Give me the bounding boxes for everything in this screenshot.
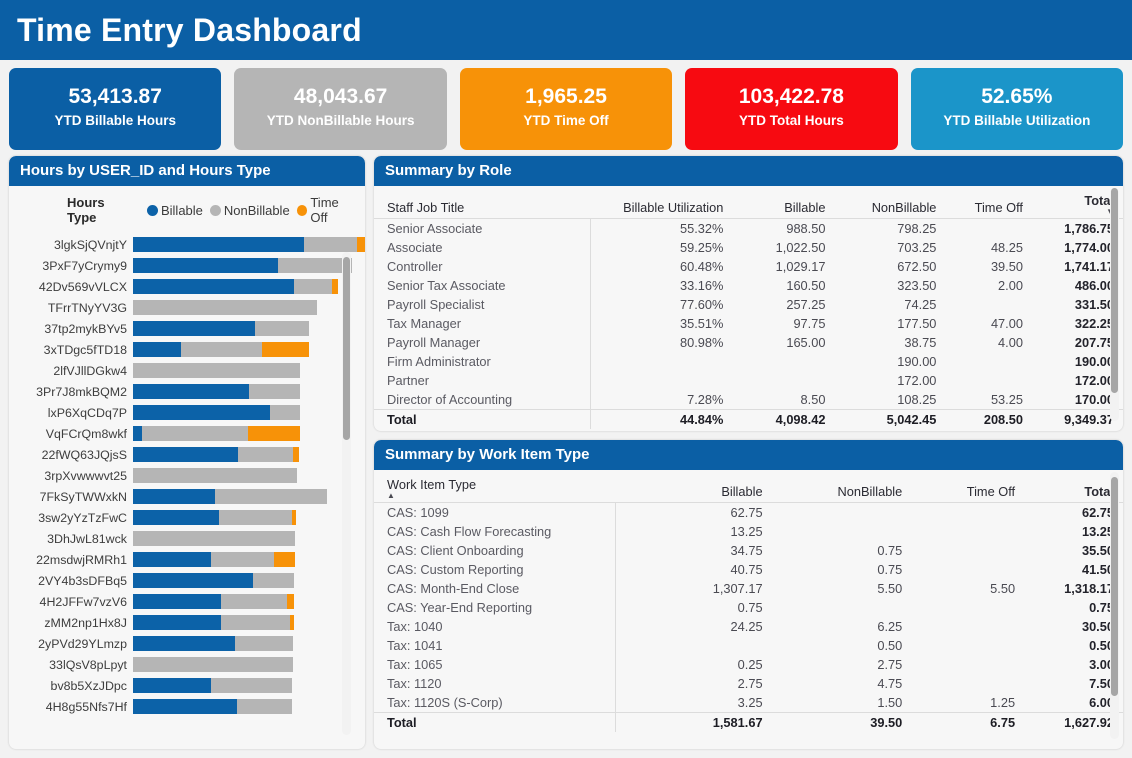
row-label-cell: CAS: Custom Reporting [374, 560, 616, 579]
chart-category-label[interactable]: 22msdwjRMRh1 [9, 553, 133, 567]
dashboard-body: Hours by USER_ID and Hours Type Hours Ty… [0, 150, 1132, 758]
data-cell-timeoff: 53.25 [945, 390, 1032, 410]
kpi-value: 53,413.87 [68, 83, 161, 111]
bar-segment-billable[interactable] [133, 699, 237, 714]
bar-segment-nonbillable[interactable] [219, 510, 293, 525]
legend-label: NonBillable [224, 203, 290, 218]
data-cell-total: 41.50 [1024, 560, 1123, 579]
stacked-bar[interactable] [133, 531, 295, 546]
row-label-cell: CAS: 1099 [374, 503, 616, 523]
data-cell-billable: 988.50 [732, 219, 834, 239]
column-header-billable[interactable]: Billable [732, 188, 834, 219]
data-cell-util: 60.48% [590, 257, 732, 276]
kpi-label: YTD Time Off [523, 111, 608, 131]
data-cell-billable [732, 371, 834, 390]
chart-category-label[interactable]: 2lfVJllDGkw4 [9, 364, 133, 378]
bar-segment-time-off[interactable] [287, 594, 294, 609]
data-cell-billable: 1,029.17 [732, 257, 834, 276]
column-header-label: NonBillable [838, 484, 903, 499]
data-cell-util: 35.51% [590, 314, 732, 333]
data-cell-billable: 0.75 [616, 598, 772, 617]
chart-category-label[interactable]: 33lQsV8pLpyt [9, 658, 133, 672]
data-cell-timeoff [911, 636, 1024, 655]
chart-bar-row[interactable]: TFrrTNyYV3G [9, 297, 365, 318]
bar-segment-billable[interactable] [133, 321, 255, 336]
chart-category-label[interactable]: 4H8g55Nfs7Hf [9, 700, 133, 714]
stacked-bar[interactable] [133, 636, 293, 651]
sort-ascending-icon: ▲ [387, 492, 395, 499]
bar-segment-billable[interactable] [133, 384, 249, 399]
chart-bar-row[interactable]: 33lQsV8pLpyt [9, 654, 365, 675]
stacked-bar[interactable] [133, 678, 292, 693]
bar-segment-time-off[interactable] [274, 552, 295, 567]
data-cell-util: 77.60% [590, 295, 732, 314]
data-cell-nonbillable: 1.50 [772, 693, 912, 713]
bar-segment-time-off[interactable] [332, 279, 338, 294]
row-label-cell: Payroll Specialist [374, 295, 590, 314]
data-cell-total: 13.25 [1024, 522, 1123, 541]
data-cell-nonbillable: 190.00 [834, 352, 945, 371]
bar-segment-nonbillable[interactable] [133, 300, 317, 315]
row-label-cell: CAS: Month-End Close [374, 579, 616, 598]
bar-segment-nonbillable[interactable] [294, 279, 332, 294]
chart-bar-row[interactable]: 3xTDgc5fTD18 [9, 339, 365, 360]
row-label-cell: Tax Manager [374, 314, 590, 333]
chart-bar-row[interactable]: 3rpXvwwwvt25 [9, 465, 365, 486]
column-header-time-off[interactable]: Time Off [911, 472, 1024, 503]
bar-segment-nonbillable[interactable] [270, 405, 300, 420]
stacked-bar[interactable] [133, 552, 295, 567]
data-cell-nonbillable [772, 503, 912, 523]
column-header-label: Time Off [967, 484, 1015, 499]
data-cell-nonbillable: 38.75 [834, 333, 945, 352]
total-cell-nonbillable: 5,042.45 [834, 410, 945, 430]
data-cell-total: 62.75 [1024, 503, 1123, 523]
data-cell-billable [732, 352, 834, 371]
legend-item-billable[interactable]: Billable [147, 203, 203, 218]
stacked-bar[interactable] [133, 615, 294, 630]
chart-category-label[interactable]: 3lgkSjQVnjtY [9, 238, 133, 252]
role-table-header[interactable]: Staff Job TitleBillable UtilizationBilla… [374, 188, 1123, 219]
chart-bar-row[interactable]: 3DhJwL81wck [9, 528, 365, 549]
summary-by-work-item-body: Work Item Type▲BillableNonBillableTime O… [374, 470, 1123, 749]
chart-bar-row[interactable]: 42Dv569vVLCX [9, 276, 365, 297]
bar-segment-billable[interactable] [133, 447, 238, 462]
row-label-cell: Tax: 1040 [374, 617, 616, 636]
table-row[interactable]: Tax: 1120S (S-Corp)3.251.501.256.00 [374, 693, 1123, 713]
chart-scrollbar-thumb[interactable] [343, 257, 350, 441]
table-row[interactable]: CAS: 109962.7562.75 [374, 503, 1123, 523]
bar-segment-time-off[interactable] [290, 615, 294, 630]
kpi-ytd-billable-utilization[interactable]: 52.65%YTD Billable Utilization [911, 68, 1123, 150]
kpi-value: 48,043.67 [294, 83, 387, 111]
chart-bar-row[interactable]: 4H8g55Nfs7Hf [9, 696, 365, 717]
data-cell-total: 35.50 [1024, 541, 1123, 560]
data-cell-timeoff: 2.00 [945, 276, 1032, 295]
bar-segment-nonbillable[interactable] [142, 426, 248, 441]
chart-category-label[interactable]: 4H2JFFw7vzV6 [9, 595, 133, 609]
bar-segment-billable[interactable] [133, 678, 211, 693]
chart-category-label[interactable]: lxP6XqCDq7P [9, 406, 133, 420]
table-row[interactable]: CAS: Month-End Close1,307.175.505.501,31… [374, 579, 1123, 598]
row-label-cell: CAS: Client Onboarding [374, 541, 616, 560]
total-row-label: Total [374, 713, 616, 733]
chart-category-label[interactable]: zMM2np1Hx8J [9, 616, 133, 630]
chart-bar-row[interactable]: bv8b5XzJDpc [9, 675, 365, 696]
chart-bar-row[interactable]: 2VY4b3sDFBq5 [9, 570, 365, 591]
column-header-label: NonBillable [872, 200, 937, 215]
chart-category-label[interactable]: 3DhJwL81wck [9, 532, 133, 546]
legend-caption: Hours Type [67, 195, 137, 225]
bar-segment-nonbillable[interactable] [133, 657, 293, 672]
data-cell-nonbillable: 2.75 [772, 655, 912, 674]
data-cell-billable: 40.75 [616, 560, 772, 579]
row-label-cell: Payroll Manager [374, 333, 590, 352]
total-row-label: Total [374, 410, 590, 430]
chart-category-label[interactable]: 3rpXvwwwvt25 [9, 469, 133, 483]
row-label-cell: Senior Tax Associate [374, 276, 590, 295]
table-row[interactable]: Senior Associate55.32%988.50798.251,786.… [374, 219, 1123, 239]
table-row[interactable]: CAS: Year-End Reporting0.750.75 [374, 598, 1123, 617]
bar-segment-nonbillable[interactable] [253, 573, 294, 588]
bar-segment-nonbillable[interactable] [278, 258, 352, 273]
table-total-row: Total1,581.6739.506.751,627.92 [374, 713, 1123, 733]
data-cell-timeoff [911, 541, 1024, 560]
bar-segment-nonbillable[interactable] [211, 552, 275, 567]
bar-segment-nonbillable[interactable] [237, 699, 293, 714]
chart-category-label[interactable]: VqFCrQm8wkf [9, 427, 133, 441]
row-label-cell: CAS: Cash Flow Forecasting [374, 522, 616, 541]
data-cell-nonbillable: 0.75 [772, 541, 912, 560]
table-row[interactable]: Firm Administrator190.00190.00 [374, 352, 1123, 371]
data-cell-billable: 13.25 [616, 522, 772, 541]
bar-segment-nonbillable[interactable] [221, 615, 291, 630]
chart-category-label[interactable]: 3Pr7J8mkBQM2 [9, 385, 133, 399]
page-title: Time Entry Dashboard [17, 12, 362, 49]
table-row[interactable]: CAS: Cash Flow Forecasting13.2513.25 [374, 522, 1123, 541]
bar-segment-nonbillable[interactable] [221, 594, 288, 609]
table-row[interactable]: Tax: 104024.256.2530.50 [374, 617, 1123, 636]
chart-bar-row[interactable]: 22msdwjRMRh1 [9, 549, 365, 570]
bar-segment-billable[interactable] [133, 510, 219, 525]
bar-segment-billable[interactable] [133, 405, 270, 420]
role-table-body[interactable]: Senior Associate55.32%988.50798.251,786.… [374, 219, 1123, 430]
stacked-bar[interactable] [133, 573, 294, 588]
data-cell-timeoff: 48.25 [945, 238, 1032, 257]
data-cell-billable: 257.25 [732, 295, 834, 314]
data-cell-total: 30.50 [1024, 617, 1123, 636]
chart-bar-row[interactable]: 3PxF7yCrymy9 [9, 255, 365, 276]
work-item-table-vertical-scrollbar[interactable] [1110, 472, 1119, 739]
data-cell-billable: 97.75 [732, 314, 834, 333]
data-cell-util [590, 352, 732, 371]
data-cell-util: 7.28% [590, 390, 732, 410]
data-cell-nonbillable: 177.50 [834, 314, 945, 333]
bar-segment-billable[interactable] [133, 552, 211, 567]
bar-segment-billable[interactable] [133, 615, 221, 630]
data-cell-timeoff: 1.25 [911, 693, 1024, 713]
data-cell-billable: 160.50 [732, 276, 834, 295]
chart-vertical-scrollbar[interactable] [342, 252, 351, 735]
data-cell-billable: 1,307.17 [616, 579, 772, 598]
stacked-bar[interactable] [133, 342, 309, 357]
stacked-bar[interactable] [133, 279, 338, 294]
bar-segment-billable[interactable] [133, 636, 235, 651]
table-row[interactable]: Payroll Specialist77.60%257.2574.25331.5… [374, 295, 1123, 314]
chart-category-label[interactable]: 42Dv569vVLCX [9, 280, 133, 294]
bar-segment-time-off[interactable] [357, 237, 365, 252]
summary-by-role-body: Staff Job TitleBillable UtilizationBilla… [374, 186, 1123, 431]
bar-segment-billable[interactable] [133, 489, 215, 504]
chart-bar-row[interactable]: 4H2JFFw7vzV6 [9, 591, 365, 612]
table-row[interactable]: Tax Manager35.51%97.75177.5047.00322.25 [374, 314, 1123, 333]
bar-segment-nonbillable[interactable] [181, 342, 263, 357]
bar-segment-time-off[interactable] [248, 426, 301, 441]
data-cell-timeoff [911, 617, 1024, 636]
data-cell-timeoff [945, 219, 1032, 239]
data-cell-total: 6.00 [1024, 693, 1123, 713]
hours-by-user-panel-title: Hours by USER_ID and Hours Type [9, 156, 365, 186]
legend-label: Billable [161, 203, 203, 218]
bar-segment-nonbillable[interactable] [133, 363, 300, 378]
row-label-cell: CAS: Year-End Reporting [374, 598, 616, 617]
chart-category-label[interactable]: 3sw2yYzTzFwC [9, 511, 133, 525]
column-header-total[interactable]: Total [1024, 472, 1123, 503]
table-row[interactable]: Tax: 10650.252.753.00 [374, 655, 1123, 674]
chart-bar-row[interactable]: 22fWQ63JQjsS [9, 444, 365, 465]
chart-bar-row[interactable]: 2lfVJllDGkw4 [9, 360, 365, 381]
data-cell-timeoff [945, 295, 1032, 314]
column-header-time-off[interactable]: Time Off [945, 188, 1032, 219]
kpi-ytd-time-off[interactable]: 1,965.25YTD Time Off [460, 68, 672, 150]
data-cell-util: 33.16% [590, 276, 732, 295]
stacked-bar[interactable] [133, 405, 300, 420]
bar-segment-billable[interactable] [133, 342, 181, 357]
column-header-label: Time Off [975, 200, 1023, 215]
row-label-cell: Tax: 1120S (S-Corp) [374, 693, 616, 713]
table-row[interactable]: Tax: 11202.754.757.50 [374, 674, 1123, 693]
chart-bar-row[interactable]: VqFCrQm8wkf [9, 423, 365, 444]
bar-segment-billable[interactable] [133, 237, 304, 252]
table-row[interactable]: Director of Accounting7.28%8.50108.2553.… [374, 390, 1123, 410]
column-header-billable[interactable]: Billable [616, 472, 772, 503]
total-cell-nonbillable: 39.50 [772, 713, 912, 733]
data-cell-util [590, 371, 732, 390]
stacked-bar[interactable] [133, 384, 300, 399]
stacked-bar[interactable] [133, 300, 317, 315]
data-cell-nonbillable: 0.50 [772, 636, 912, 655]
kpi-value: 1,965.25 [525, 83, 607, 111]
kpi-card-row: 53,413.87YTD Billable Hours48,043.67YTD … [0, 60, 1132, 150]
chart-bar-row[interactable]: 7FkSyTWWxkN [9, 486, 365, 507]
column-header-nonbillable[interactable]: NonBillable [834, 188, 945, 219]
role-scrollbar-thumb[interactable] [1111, 188, 1118, 393]
role-table-vertical-scrollbar[interactable] [1110, 188, 1119, 421]
data-cell-billable: 34.75 [616, 541, 772, 560]
stacked-bar[interactable] [133, 237, 365, 252]
bar-segment-nonbillable[interactable] [249, 384, 301, 399]
bar-segment-billable[interactable] [133, 573, 253, 588]
column-header-staff-job-title[interactable]: Staff Job Title [374, 188, 590, 219]
stacked-bar[interactable] [133, 447, 299, 462]
chart-bar-row[interactable]: 3lgkSjQVnjtY [9, 234, 365, 255]
column-header-label: Staff Job Title [387, 200, 464, 215]
work-table-body[interactable]: CAS: 109962.7562.75CAS: Cash Flow Foreca… [374, 503, 1123, 733]
bar-segment-nonbillable[interactable] [133, 531, 295, 546]
bar-segment-nonbillable[interactable] [133, 468, 297, 483]
row-label-cell: Partner [374, 371, 590, 390]
bar-segment-billable[interactable] [133, 258, 278, 273]
table-row[interactable]: Payroll Manager80.98%165.0038.754.00207.… [374, 333, 1123, 352]
chart-plot-area: 3lgkSjQVnjtY3PxF7yCrymy942Dv569vVLCXTFrr… [9, 229, 365, 717]
row-label-cell: Senior Associate [374, 219, 590, 239]
data-cell-timeoff [911, 560, 1024, 579]
data-cell-billable: 24.25 [616, 617, 772, 636]
stacked-bar[interactable] [133, 699, 292, 714]
data-cell-total: 3.00 [1024, 655, 1123, 674]
legend-swatch-icon [297, 205, 308, 216]
legend-item-nonbillable[interactable]: NonBillable [210, 203, 290, 218]
data-cell-nonbillable: 172.00 [834, 371, 945, 390]
data-cell-nonbillable: 108.25 [834, 390, 945, 410]
data-cell-total: 0.75 [1024, 598, 1123, 617]
data-cell-util: 55.32% [590, 219, 732, 239]
row-label-cell: Firm Administrator [374, 352, 590, 371]
data-cell-timeoff: 5.50 [911, 579, 1024, 598]
data-cell-timeoff [911, 522, 1024, 541]
hours-by-user-panel: Hours by USER_ID and Hours Type Hours Ty… [9, 156, 365, 749]
column-header-work-item-type[interactable]: Work Item Type▲ [374, 472, 616, 503]
legend-item-time-off[interactable]: Time Off [297, 195, 358, 225]
data-cell-billable: 8.50 [732, 390, 834, 410]
table-row[interactable]: Senior Tax Associate33.16%160.50323.502.… [374, 276, 1123, 295]
bar-segment-billable[interactable] [133, 279, 294, 294]
kpi-value: 103,422.78 [739, 83, 844, 111]
total-cell-billable: 4,098.42 [732, 410, 834, 430]
chart-bar-row[interactable]: lxP6XqCDq7P [9, 402, 365, 423]
kpi-label: YTD NonBillable Hours [267, 111, 415, 131]
chart-bar-row[interactable]: 3sw2yYzTzFwC [9, 507, 365, 528]
work-item-scrollbar-thumb[interactable] [1111, 477, 1118, 696]
bar-segment-nonbillable[interactable] [255, 321, 309, 336]
stacked-bar[interactable] [133, 489, 327, 504]
row-label-cell: Associate [374, 238, 590, 257]
column-header-label: Work Item Type [387, 477, 476, 492]
table-row[interactable]: Controller60.48%1,029.17672.5039.501,741… [374, 257, 1123, 276]
data-cell-nonbillable: 5.50 [772, 579, 912, 598]
chart-category-label[interactable]: 3xTDgc5fTD18 [9, 343, 133, 357]
bar-segment-time-off[interactable] [293, 447, 299, 462]
table-row[interactable]: Tax: 10410.500.50 [374, 636, 1123, 655]
work-table-header[interactable]: Work Item Type▲BillableNonBillableTime O… [374, 472, 1123, 503]
stacked-bar[interactable] [133, 258, 352, 273]
chart-category-label[interactable]: 22fWQ63JQjsS [9, 448, 133, 462]
data-cell-total: 7.50 [1024, 674, 1123, 693]
stacked-bar[interactable] [133, 363, 300, 378]
data-cell-timeoff [911, 503, 1024, 523]
data-cell-nonbillable [772, 598, 912, 617]
data-cell-timeoff [911, 598, 1024, 617]
column-header-nonbillable[interactable]: NonBillable [772, 472, 912, 503]
total-cell-total: 1,627.92 [1024, 713, 1123, 733]
kpi-ytd-billable-hours[interactable]: 53,413.87YTD Billable Hours [9, 68, 221, 150]
chart-category-label[interactable]: 2yPVd29YLmzp [9, 637, 133, 651]
data-cell-nonbillable [772, 522, 912, 541]
bar-segment-billable[interactable] [133, 594, 221, 609]
bar-segment-nonbillable[interactable] [211, 678, 293, 693]
data-cell-timeoff: 47.00 [945, 314, 1032, 333]
chart-category-label[interactable]: 37tp2mykBYv5 [9, 322, 133, 336]
data-cell-nonbillable: 6.25 [772, 617, 912, 636]
summary-by-role-table[interactable]: Staff Job TitleBillable UtilizationBilla… [374, 188, 1123, 429]
kpi-ytd-nonbillable-hours[interactable]: 48,043.67YTD NonBillable Hours [234, 68, 446, 150]
column-header-billable-utilization[interactable]: Billable Utilization [590, 188, 732, 219]
table-row[interactable]: Associate59.25%1,022.50703.2548.251,774.… [374, 238, 1123, 257]
stacked-bar[interactable] [133, 657, 293, 672]
chart-bar-row[interactable]: zMM2np1Hx8J [9, 612, 365, 633]
data-cell-timeoff [945, 371, 1032, 390]
bar-segment-nonbillable[interactable] [238, 447, 294, 462]
chart-category-label[interactable]: 7FkSyTWWxkN [9, 490, 133, 504]
data-cell-billable: 1,022.50 [732, 238, 834, 257]
chart-bar-row[interactable]: 2yPVd29YLmzp [9, 633, 365, 654]
chart-category-label[interactable]: 3PxF7yCrymy9 [9, 259, 133, 273]
summary-by-work-item-panel-title: Summary by Work Item Type [374, 440, 1123, 470]
summary-by-work-item-table[interactable]: Work Item Type▲BillableNonBillableTime O… [374, 472, 1123, 732]
legend-label: Time Off [310, 195, 358, 225]
table-row[interactable]: CAS: Client Onboarding34.750.7535.50 [374, 541, 1123, 560]
kpi-ytd-total-hours[interactable]: 103,422.78YTD Total Hours [685, 68, 897, 150]
stacked-bar[interactable] [133, 594, 294, 609]
data-cell-util: 59.25% [590, 238, 732, 257]
data-cell-util: 80.98% [590, 333, 732, 352]
row-label-cell: Tax: 1041 [374, 636, 616, 655]
chart-bar-row[interactable]: 3Pr7J8mkBQM2 [9, 381, 365, 402]
bar-segment-billable[interactable] [133, 426, 142, 441]
table-row[interactable]: Partner172.00172.00 [374, 371, 1123, 390]
bar-segment-time-off[interactable] [262, 342, 309, 357]
bar-segment-time-off[interactable] [292, 510, 296, 525]
chart-category-label[interactable]: 2VY4b3sDFBq5 [9, 574, 133, 588]
data-cell-nonbillable: 798.25 [834, 219, 945, 239]
chart-bar-row[interactable]: 37tp2mykBYv5 [9, 318, 365, 339]
bar-segment-nonbillable[interactable] [235, 636, 294, 651]
row-label-cell: Controller [374, 257, 590, 276]
total-cell-util: 44.84% [590, 410, 732, 430]
chart-category-label[interactable]: TFrrTNyYV3G [9, 301, 133, 315]
stacked-bar[interactable] [133, 321, 309, 336]
stacked-bar[interactable] [133, 468, 297, 483]
table-total-row: Total44.84%4,098.425,042.45208.509,349.3… [374, 410, 1123, 430]
left-column: Hours by USER_ID and Hours Type Hours Ty… [9, 156, 365, 749]
legend-swatch-icon [147, 205, 158, 216]
data-cell-nonbillable: 4.75 [772, 674, 912, 693]
kpi-value: 52.65% [981, 83, 1052, 111]
kpi-label: YTD Billable Hours [54, 111, 176, 131]
data-cell-timeoff [911, 655, 1024, 674]
bar-segment-nonbillable[interactable] [215, 489, 328, 504]
kpi-label: YTD Billable Utilization [943, 111, 1090, 131]
chart-category-label[interactable]: bv8b5XzJDpc [9, 679, 133, 693]
hours-by-user-panel-body: Hours Type BillableNonBillableTime Off 3… [9, 186, 365, 749]
right-column: Summary by Role Staff Job TitleBillable … [374, 156, 1123, 749]
kpi-label: YTD Total Hours [739, 111, 844, 131]
stacked-bar[interactable] [133, 426, 300, 441]
table-row[interactable]: CAS: Custom Reporting40.750.7541.50 [374, 560, 1123, 579]
total-cell-timeoff: 6.75 [911, 713, 1024, 733]
stacked-bar[interactable] [133, 510, 296, 525]
bar-segment-nonbillable[interactable] [304, 237, 357, 252]
